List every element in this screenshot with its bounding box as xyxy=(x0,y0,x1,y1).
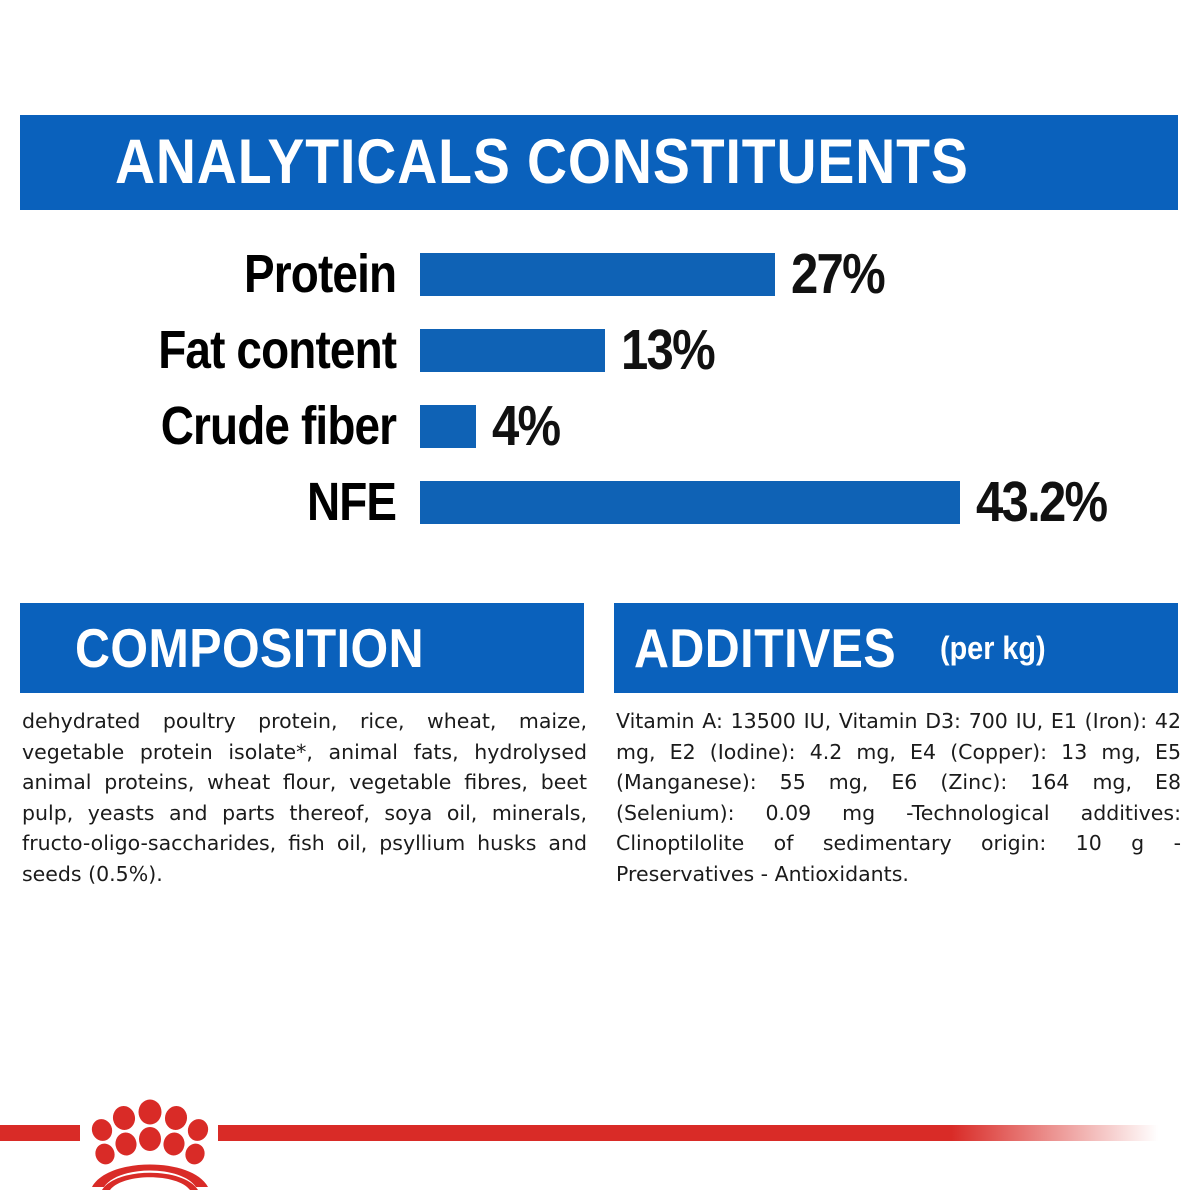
bar-value-fat-content: 13% xyxy=(621,322,714,379)
bar-label-nfe: NFE xyxy=(63,475,420,529)
composition-body-text: dehydrated poultry protein, rice, wheat,… xyxy=(22,706,587,889)
bar-value-crude-fiber: 4% xyxy=(492,398,559,455)
bar-track-protein: 27% xyxy=(420,246,1200,303)
bar-value-nfe: 43.2% xyxy=(976,474,1106,531)
chart-row: Crude fiber 4% xyxy=(0,388,1200,464)
bar-label-crude-fiber: Crude fiber xyxy=(63,399,420,453)
bar-fill-crude-fiber xyxy=(420,405,476,448)
additives-body-text: Vitamin A: 13500 IU, Vitamin D3: 700 IU,… xyxy=(616,706,1181,889)
chart-row: NFE 43.2% xyxy=(0,464,1200,540)
analyticals-bar-chart: Protein 27% Fat content 13% Crude fiber … xyxy=(0,236,1200,546)
bar-fill-nfe xyxy=(420,481,960,524)
footer-brand-bar xyxy=(0,1095,1200,1200)
royal-canin-crown-icon xyxy=(82,1095,218,1191)
bar-track-nfe: 43.2% xyxy=(420,474,1200,531)
composition-header: COMPOSITION xyxy=(20,603,584,693)
bar-label-fat-content: Fat content xyxy=(63,323,420,377)
chart-row: Protein 27% xyxy=(0,236,1200,312)
bar-fill-fat-content xyxy=(420,329,605,372)
analyticals-constituents-title: ANALYTICALS CONSTITUENTS xyxy=(115,131,969,194)
chart-row: Fat content 13% xyxy=(0,312,1200,388)
additives-header: ADDITIVES (per kg) xyxy=(614,603,1178,693)
red-rule-left xyxy=(0,1125,80,1141)
composition-title: COMPOSITION xyxy=(75,621,424,676)
bar-label-protein: Protein xyxy=(63,247,420,301)
bar-track-crude-fiber: 4% xyxy=(420,398,1200,455)
bar-fill-protein xyxy=(420,253,775,296)
bar-value-protein: 27% xyxy=(791,246,884,303)
analyticals-constituents-header: ANALYTICALS CONSTITUENTS xyxy=(20,115,1178,210)
red-rule-right xyxy=(218,1125,1158,1141)
additives-subtitle-per-kg: (per kg) xyxy=(940,632,1046,664)
additives-title: ADDITIVES xyxy=(634,621,896,676)
bar-track-fat-content: 13% xyxy=(420,322,1200,379)
